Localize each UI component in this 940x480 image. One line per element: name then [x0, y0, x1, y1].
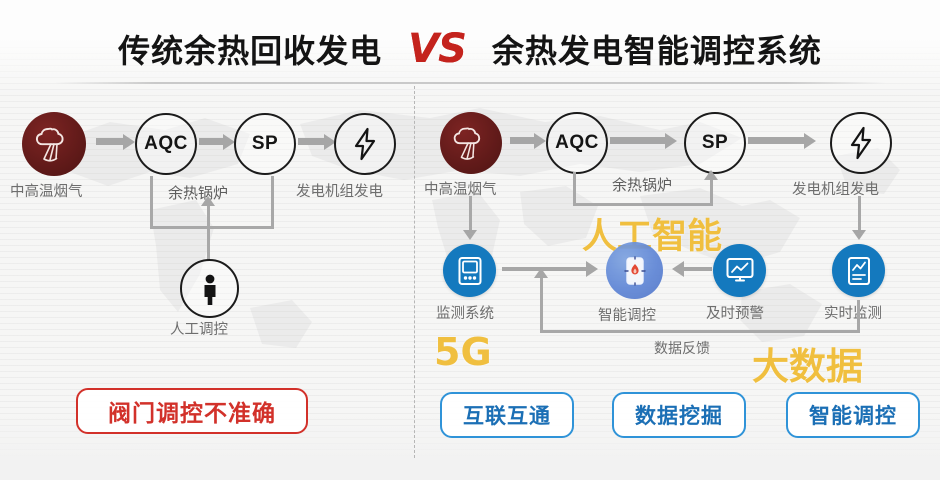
right-arrow-gen-to-realtime-head — [852, 230, 866, 240]
right-arrow-gas-to-aqc-head — [534, 133, 546, 149]
right-arrow-warning-to-smart-head — [672, 261, 684, 277]
left-arrow-sp-to-gen — [298, 138, 324, 145]
right-node-realtime-detect[interactable] — [832, 244, 885, 297]
right-title: 余热发电智能调控系统 — [492, 26, 822, 72]
device-monitor-glyph — [457, 256, 483, 286]
right-arrow-aqc-to-sp-head — [665, 133, 677, 149]
left-node-aqc: AQC — [135, 113, 193, 171]
aqc-circle: AQC — [546, 112, 608, 174]
feedback-right-leg — [857, 300, 860, 332]
feedback-base — [540, 330, 860, 333]
right-badge-interconnect[interactable]: 互联互通 — [440, 392, 574, 438]
sp-circle: SP — [684, 112, 746, 174]
left-label-manual: 人工调控 — [170, 318, 228, 339]
left-label-generator: 发电机组发电 — [296, 180, 383, 201]
right-node-monitor-system[interactable] — [443, 244, 496, 297]
left-manual-connector-head — [201, 196, 215, 206]
right-node-aqc: AQC — [546, 112, 604, 170]
left-label-boiler: 余热锅炉 — [168, 182, 228, 203]
left-manual-connector — [207, 204, 210, 260]
feedback-left-leg — [540, 277, 543, 332]
smoke-icon — [440, 112, 502, 174]
lightning-icon — [334, 113, 396, 175]
gold-word-big-data: 大数据 — [752, 336, 863, 390]
lightning-glyph — [350, 127, 380, 161]
right-boiler-left-leg — [573, 172, 576, 206]
right-arrow-monitor-to-smart-head — [586, 261, 598, 277]
right-boiler-arrow-head — [704, 170, 718, 180]
sp-circle: SP — [234, 113, 296, 175]
header-divider-line — [55, 82, 885, 84]
right-label-smart-control: 智能调控 — [598, 304, 656, 325]
left-node-generator — [334, 113, 392, 171]
right-node-flue-gas — [440, 112, 502, 174]
chart-monitor-glyph — [725, 257, 755, 285]
left-label-flue-gas: 中高温烟气 — [10, 180, 83, 201]
right-arrow-sp-to-gen-head — [804, 133, 816, 149]
smart-device-icon — [606, 242, 663, 299]
right-label-generator: 发电机组发电 — [792, 178, 879, 199]
right-label-feedback: 数据反馈 — [654, 338, 710, 358]
right-node-generator — [830, 112, 888, 170]
person-glyph — [198, 273, 222, 305]
left-arrow-gas-to-aqc — [96, 138, 123, 145]
left-result-badge[interactable]: 阀门调控不准确 — [76, 388, 308, 434]
right-arrow-gas-to-aqc — [510, 137, 534, 144]
left-node-sp: SP — [234, 113, 292, 171]
device-monitor-icon — [443, 244, 496, 297]
left-arrow-gas-to-aqc-head — [123, 134, 135, 150]
smoke-glyph — [449, 121, 493, 165]
smart-device-glyph — [623, 256, 647, 286]
panel-divider — [414, 86, 415, 458]
infographic-canvas: 传统余热回收发电 VS 余热发电智能调控系统 中高温烟气 AQC SP — [0, 0, 940, 480]
chart-document-icon — [832, 244, 885, 297]
smoke-icon — [22, 112, 86, 176]
left-title: 传统余热回收发电 — [118, 26, 382, 72]
right-label-flue-gas: 中高温烟气 — [424, 178, 497, 199]
right-label-timely-warning: 及时预警 — [706, 302, 764, 323]
chart-document-glyph — [846, 256, 872, 286]
left-node-manual — [180, 259, 235, 314]
right-node-sp: SP — [684, 112, 742, 170]
aqc-circle: AQC — [135, 113, 197, 175]
feedback-arrow-head — [534, 268, 548, 278]
left-node-flue-gas — [22, 112, 86, 176]
vs-badge: VS — [408, 26, 466, 72]
right-arrow-warning-to-smart — [684, 267, 712, 271]
right-badge-data-mining[interactable]: 数据挖掘 — [612, 392, 746, 438]
person-icon — [180, 259, 239, 318]
right-arrow-gas-to-monitor — [469, 196, 472, 232]
lightning-glyph — [846, 126, 876, 160]
right-label-monitor-system: 监测系统 — [436, 302, 494, 323]
smoke-glyph — [31, 121, 77, 167]
right-arrow-gen-to-realtime — [858, 196, 861, 232]
right-node-smart-control[interactable] — [606, 242, 663, 299]
right-boiler-base — [573, 203, 713, 206]
right-arrow-gas-to-monitor-head — [463, 230, 477, 240]
left-arrow-aqc-to-sp — [199, 138, 223, 145]
chart-monitor-icon — [713, 244, 766, 297]
right-boiler-right-leg — [710, 180, 713, 204]
right-badge-smart-control[interactable]: 智能调控 — [786, 392, 920, 438]
right-arrow-sp-to-gen — [748, 137, 804, 144]
right-label-realtime-detect: 实时监测 — [824, 302, 882, 323]
lightning-icon — [830, 112, 892, 174]
page-header: 传统余热回收发电 VS 余热发电智能调控系统 — [0, 18, 940, 80]
gold-word-5g: 5G — [434, 330, 492, 374]
right-arrow-aqc-to-sp — [610, 137, 665, 144]
right-node-timely-warning[interactable] — [713, 244, 766, 297]
right-label-boiler: 余热锅炉 — [612, 174, 672, 195]
